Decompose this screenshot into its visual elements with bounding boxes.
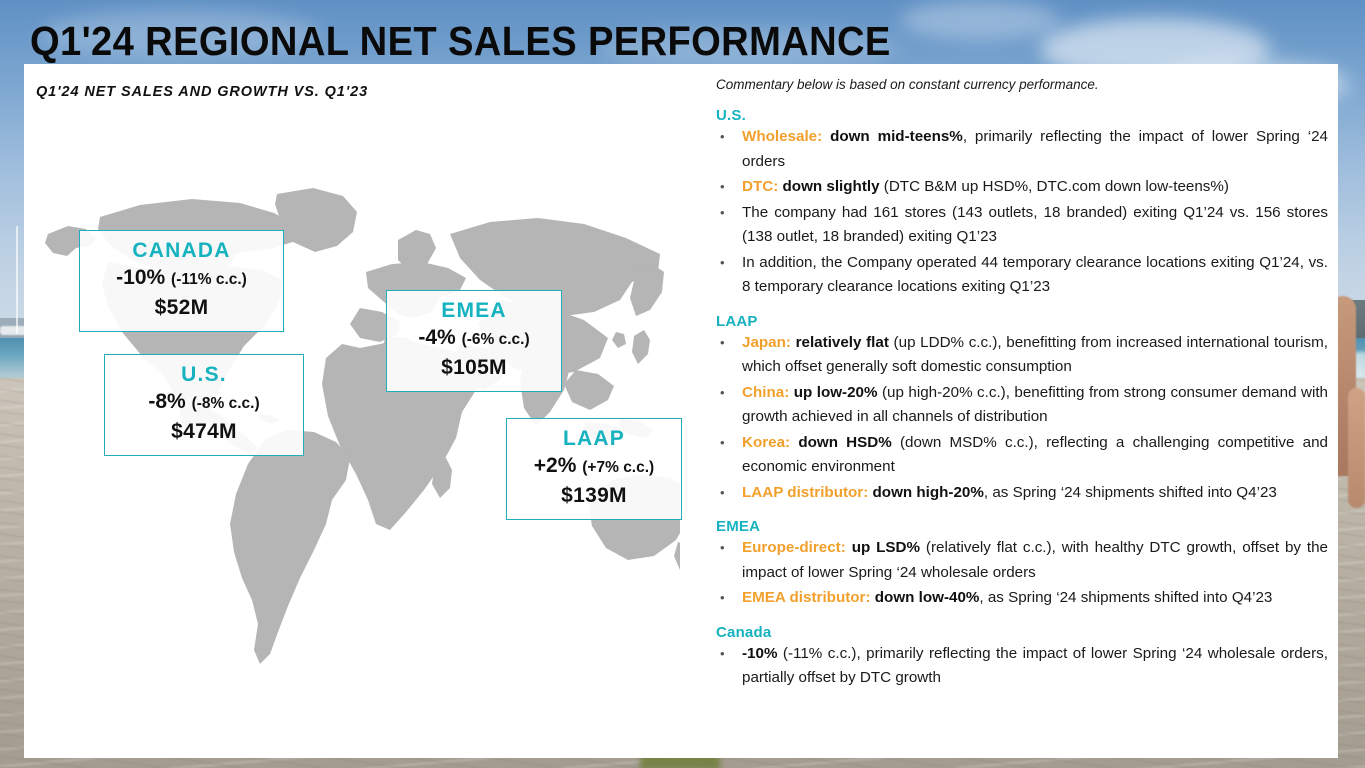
bullet-text: , as Spring ‘24 shipments shifted into Q… [984, 484, 1277, 501]
bullet-bold: down slightly [783, 178, 880, 195]
callout-region-label: CANADA [94, 237, 269, 264]
callout-laap[interactable]: LAAP +2% (+7% c.c.) $139M [506, 418, 682, 520]
callout-growth: -4% (-6% c.c.) [401, 324, 547, 354]
list-item: The company had 161 stores (143 outlets,… [694, 201, 1328, 250]
slide-subtitle: Q1'24 NET SALES AND GROWTH VS. Q1'23 [36, 84, 368, 100]
commentary-section-us: U.S. Wholesale: down mid-teens%, primari… [694, 107, 1328, 300]
list-item: Wholesale: down mid-teens%, primarily re… [694, 125, 1328, 174]
bullet-label: DTC: [742, 178, 778, 195]
bullet-list-canada: -10% (-11% c.c.), primarily reflecting t… [694, 642, 1328, 691]
callout-amount: $139M [521, 482, 667, 509]
bullet-bold: -10% [742, 645, 777, 662]
callout-growth: -8% (-8% c.c.) [119, 388, 289, 418]
slide-title: Q1'24 REGIONAL NET SALES PERFORMANCE [30, 16, 891, 66]
commentary-section-laap: LAAP Japan: relatively flat (up LDD% c.c… [694, 313, 1328, 506]
person-silhouette [1348, 388, 1365, 508]
bullet-bold: up LSD% [852, 539, 920, 556]
list-item: China: up low-20% (up high-20% c.c.), be… [694, 381, 1328, 430]
bullet-bold: down mid-teens% [830, 128, 963, 145]
callout-amount: $105M [401, 354, 547, 381]
bullet-text: , as Spring ‘24 shipments shifted into Q… [979, 589, 1272, 606]
bullet-list-us: Wholesale: down mid-teens%, primarily re… [694, 125, 1328, 300]
cloud [900, 0, 1060, 40]
section-title-laap: LAAP [716, 313, 1328, 330]
bullet-list-laap: Japan: relatively flat (up LDD% c.c.), b… [694, 331, 1328, 506]
slide-content-panel: Q1'24 NET SALES AND GROWTH VS. Q1'23 [24, 64, 1338, 758]
commentary-section-canada: Canada -10% (-11% c.c.), primarily refle… [694, 624, 1328, 691]
callout-region-label: U.S. [119, 361, 289, 388]
commentary-column: Commentary below is based on constant cu… [694, 72, 1328, 752]
callout-region-label: LAAP [521, 425, 667, 452]
bullet-label: LAAP distributor: [742, 484, 868, 501]
bullet-text: In addition, the Company operated 44 tem… [742, 254, 1328, 296]
bullet-label: Europe-direct: [742, 539, 846, 556]
callout-amount: $52M [94, 294, 269, 321]
callout-emea[interactable]: EMEA -4% (-6% c.c.) $105M [386, 290, 562, 392]
bullet-label: China: [742, 384, 789, 401]
callout-us[interactable]: U.S. -8% (-8% c.c.) $474M [104, 354, 304, 456]
bullet-list-emea: Europe-direct: up LSD% (relatively flat … [694, 536, 1328, 611]
list-item: DTC: down slightly (DTC B&M up HSD%, DTC… [694, 175, 1328, 200]
commentary-note: Commentary below is based on constant cu… [716, 76, 1328, 94]
list-item: In addition, the Company operated 44 tem… [694, 251, 1328, 300]
callout-growth: -10% (-11% c.c.) [94, 264, 269, 294]
bullet-bold: down low-40% [875, 589, 980, 606]
section-title-us: U.S. [716, 107, 1328, 124]
bullet-bold: relatively flat [796, 334, 889, 351]
bullet-text: (-11% c.c.), primarily reflecting the im… [742, 645, 1328, 687]
sailboat-mast [16, 226, 18, 334]
list-item: Japan: relatively flat (up LDD% c.c.), b… [694, 331, 1328, 380]
list-item: Europe-direct: up LSD% (relatively flat … [694, 536, 1328, 585]
bullet-bold: down HSD% [798, 434, 891, 451]
bullet-bold: up low-20% [794, 384, 878, 401]
bullet-label: Korea: [742, 434, 790, 451]
bullet-label: EMEA distributor: [742, 589, 871, 606]
section-title-canada: Canada [716, 624, 1328, 641]
bullet-text: The company had 161 stores (143 outlets,… [742, 204, 1328, 246]
list-item: -10% (-11% c.c.), primarily reflecting t… [694, 642, 1328, 691]
bullet-text: (DTC B&M up HSD%, DTC.com down low-teens… [880, 178, 1229, 195]
list-item: EMEA distributor: down low-40%, as Sprin… [694, 586, 1328, 611]
callout-growth: +2% (+7% c.c.) [521, 452, 667, 482]
callout-region-label: EMEA [401, 297, 547, 324]
bullet-label: Japan: [742, 334, 791, 351]
list-item: Korea: down HSD% (down MSD% c.c.), refle… [694, 431, 1328, 480]
callout-canada[interactable]: CANADA -10% (-11% c.c.) $52M [79, 230, 284, 332]
bullet-label: Wholesale: [742, 128, 822, 145]
bullet-bold: down high-20% [873, 484, 984, 501]
list-item: LAAP distributor: down high-20%, as Spri… [694, 481, 1328, 506]
section-title-emea: EMEA [716, 518, 1328, 535]
callout-amount: $474M [119, 418, 289, 445]
commentary-section-emea: EMEA Europe-direct: up LSD% (relatively … [694, 518, 1328, 611]
